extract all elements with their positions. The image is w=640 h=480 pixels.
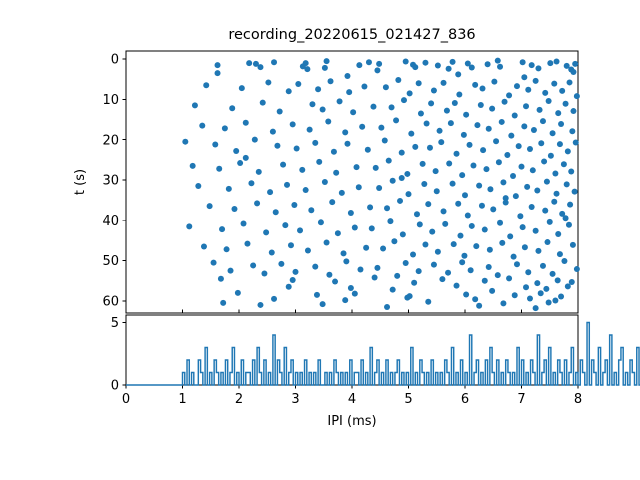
- scatter-point: [412, 144, 418, 150]
- scatter-point: [422, 241, 428, 247]
- scatter-point: [390, 287, 396, 293]
- scatter-point: [476, 303, 482, 309]
- scatter-point: [354, 164, 360, 170]
- scatter-point: [546, 98, 552, 104]
- scatter-point: [344, 73, 350, 79]
- scatter-point: [461, 253, 467, 259]
- scatter-point: [472, 296, 478, 302]
- scatter-point: [337, 98, 343, 104]
- scatter-point: [380, 246, 386, 252]
- scatter-point: [459, 172, 465, 178]
- scatter-point: [261, 271, 267, 277]
- scatter-point: [483, 166, 489, 172]
- scatter-point: [256, 169, 262, 175]
- histogram-y-tick-label: 5: [111, 316, 119, 331]
- scatter-point: [350, 109, 356, 115]
- scatter-point: [561, 161, 567, 167]
- scatter-point: [497, 220, 503, 226]
- scatter-point: [479, 203, 485, 209]
- scatter-point: [514, 83, 520, 89]
- scatter-point: [384, 205, 390, 211]
- scatter-point: [199, 123, 205, 129]
- scatter-point: [551, 199, 557, 205]
- histogram-x-tick-label: 5: [404, 392, 412, 407]
- scatter-point: [290, 277, 296, 283]
- scatter-point: [448, 120, 454, 126]
- scatter-point: [557, 141, 563, 147]
- scatter-point: [186, 223, 192, 229]
- scatter-point: [497, 64, 503, 70]
- scatter-point: [455, 201, 461, 207]
- scatter-point: [224, 246, 230, 252]
- histogram-x-tick-label: 8: [574, 392, 582, 407]
- scatter-point: [565, 283, 571, 289]
- scatter-point: [507, 233, 513, 239]
- scatter-point: [496, 159, 502, 165]
- scatter-point: [566, 222, 572, 228]
- scatter-point: [207, 203, 213, 209]
- scatter-point: [226, 186, 232, 192]
- scatter-point: [570, 69, 576, 75]
- scatter-point: [435, 249, 441, 255]
- scatter-point: [400, 231, 406, 237]
- scatter-point: [469, 65, 475, 71]
- scatter-point: [404, 295, 410, 301]
- scatter-point: [511, 254, 517, 260]
- scatter-point: [407, 90, 413, 96]
- scatter-point: [463, 112, 469, 118]
- scatter-point: [359, 124, 365, 130]
- scatter-point: [326, 272, 332, 278]
- scatter-point: [572, 61, 578, 67]
- scatter-point: [356, 184, 362, 190]
- scatter-point: [348, 210, 354, 216]
- scatter-point: [520, 224, 526, 230]
- histogram-x-tick-label: 2: [235, 392, 243, 407]
- scatter-point: [555, 110, 561, 116]
- scatter-point: [403, 58, 409, 64]
- scatter-point: [434, 188, 440, 194]
- scatter-point: [513, 193, 519, 199]
- scatter-point: [239, 85, 245, 91]
- scatter-point: [550, 130, 556, 136]
- scatter-point: [182, 139, 188, 145]
- scatter-point: [534, 187, 540, 193]
- scatter-point: [212, 142, 218, 148]
- scatter-point: [293, 269, 299, 275]
- scatter-point: [521, 74, 527, 80]
- scatter-point: [267, 189, 273, 195]
- scatter-point: [543, 286, 549, 292]
- scatter-y-tick-label: 60: [102, 295, 119, 310]
- scatter-point: [478, 102, 484, 108]
- scatter-point: [220, 300, 226, 306]
- scatter-point: [540, 118, 546, 124]
- scatter-point: [500, 300, 506, 306]
- scatter-point: [211, 260, 217, 266]
- scatter-point: [517, 213, 523, 219]
- scatter-point: [228, 268, 234, 274]
- scatter-point: [231, 206, 237, 212]
- scatter-point: [470, 162, 476, 168]
- scatter-point: [318, 219, 324, 225]
- scatter-point: [480, 147, 486, 153]
- scatter-point: [344, 141, 350, 147]
- scatter-point: [352, 291, 358, 297]
- scatter-point: [533, 305, 539, 311]
- scatter-point: [218, 276, 224, 282]
- scatter-point: [335, 230, 341, 236]
- scatter-point: [457, 233, 463, 239]
- scatter-point: [374, 67, 380, 73]
- scatter-point: [502, 99, 508, 105]
- scatter-panel: 0102030405060 t (s): [73, 51, 580, 313]
- scatter-point: [252, 137, 258, 143]
- scatter-point: [437, 128, 443, 134]
- scatter-point: [201, 243, 207, 249]
- scatter-point: [263, 229, 269, 235]
- scatter-y-axis-label: t (s): [73, 169, 88, 195]
- scatter-point: [420, 161, 426, 167]
- scatter-point: [524, 184, 530, 190]
- scatter-point: [493, 138, 499, 144]
- scatter-point: [244, 241, 250, 247]
- scatter-y-tick-label: 0: [111, 53, 119, 68]
- scatter-point: [308, 207, 314, 213]
- scatter-point: [401, 97, 407, 103]
- scatter-point: [277, 108, 283, 114]
- scatter-point: [552, 171, 558, 177]
- scatter-point: [487, 247, 493, 253]
- scatter-point: [546, 300, 552, 306]
- scatter-point: [468, 267, 474, 273]
- scatter-point: [467, 142, 473, 148]
- scatter-point: [215, 62, 221, 68]
- scatter-point: [348, 285, 354, 291]
- scatter-point: [547, 219, 553, 225]
- scatter-point: [328, 78, 334, 84]
- scatter-point: [523, 103, 529, 109]
- scatter-point: [573, 140, 579, 146]
- scatter-point: [312, 140, 318, 146]
- scatter-point: [406, 191, 412, 197]
- scatter-point: [499, 119, 505, 125]
- scatter-point: [195, 183, 201, 189]
- scatter-point: [550, 271, 556, 277]
- scatter-point: [369, 225, 375, 231]
- scatter-point: [570, 242, 576, 248]
- scatter-y-tick-label: 10: [102, 93, 119, 108]
- scatter-point: [219, 226, 225, 232]
- scatter-point: [309, 101, 315, 107]
- scatter-point: [356, 62, 362, 68]
- scatter-point: [253, 61, 259, 67]
- scatter-point: [431, 88, 437, 94]
- scatter-point: [403, 260, 409, 266]
- scatter-point: [480, 85, 486, 91]
- scatter-point: [314, 292, 320, 298]
- histogram-x-tick-label: 4: [348, 392, 356, 407]
- scatter-point: [552, 298, 558, 304]
- scatter-point: [391, 238, 397, 244]
- scatter-point: [463, 291, 469, 297]
- scatter-point: [265, 79, 271, 85]
- scatter-point: [454, 283, 460, 289]
- scatter-point: [489, 106, 495, 112]
- scatter-point: [445, 270, 451, 276]
- scatter-point: [254, 200, 260, 206]
- scatter-point: [503, 195, 509, 201]
- scatter-point: [305, 248, 311, 254]
- scatter-point: [535, 65, 541, 71]
- scatter-point: [307, 127, 313, 133]
- scatter-point: [428, 100, 434, 106]
- scatter-point: [520, 59, 526, 65]
- scatter-point: [482, 278, 488, 284]
- scatter-point: [557, 251, 563, 257]
- scatter-point: [339, 190, 345, 196]
- scatter-point: [312, 264, 318, 270]
- scatter-point: [533, 228, 539, 234]
- scatter-point: [290, 121, 296, 127]
- scatter-point: [572, 189, 578, 195]
- scatter-point: [570, 108, 576, 114]
- scatter-point: [203, 82, 209, 88]
- scatter-point: [414, 211, 420, 217]
- scatter-point: [399, 175, 405, 181]
- scatter-point: [222, 125, 228, 131]
- scatter-point: [425, 299, 431, 305]
- histogram-x-tick-label: 3: [291, 392, 299, 407]
- scatter-point: [491, 79, 497, 85]
- scatter-point: [535, 248, 541, 254]
- scatter-point: [555, 231, 561, 237]
- scatter-point: [540, 263, 546, 269]
- scatter-point: [342, 297, 348, 303]
- scatter-point: [559, 88, 565, 94]
- scatter-point: [235, 290, 241, 296]
- scatter-point: [411, 280, 417, 286]
- scatter-point: [435, 63, 441, 69]
- scatter-point: [462, 192, 468, 198]
- scatter-y-tick-label: 20: [102, 133, 119, 148]
- histogram-x-tick-label: 0: [122, 392, 130, 407]
- scatter-axes-frame: [126, 51, 578, 313]
- scatter-point: [510, 173, 516, 179]
- scatter-point: [324, 58, 330, 64]
- scatter-point: [241, 221, 247, 227]
- scatter-point: [433, 168, 439, 174]
- scatter-point: [544, 179, 550, 185]
- scatter-point: [374, 265, 380, 271]
- scatter-point: [303, 60, 309, 66]
- scatter-point: [421, 181, 427, 187]
- scatter-point: [551, 81, 557, 87]
- scatter-point: [561, 258, 567, 264]
- scatter-point: [333, 170, 339, 176]
- scatter-point: [459, 259, 465, 265]
- scatter-point: [519, 164, 525, 170]
- scatter-point: [274, 143, 280, 149]
- scatter-point: [465, 212, 471, 218]
- scatter-point: [295, 81, 301, 87]
- scatter-point: [427, 145, 433, 151]
- scatter-point: [422, 60, 428, 66]
- scatter-point: [325, 119, 331, 125]
- plot-canvas: recording_20220615_021427_836 0102030405…: [0, 0, 640, 480]
- scatter-point: [320, 301, 326, 307]
- scatter-point: [343, 258, 349, 264]
- scatter-point: [529, 62, 535, 68]
- scatter-point: [331, 149, 337, 155]
- scatter-point: [452, 100, 458, 106]
- scatter-point: [322, 179, 328, 185]
- scatter-point: [439, 276, 445, 282]
- scatter-point: [450, 181, 456, 187]
- page-title: recording_20220615_021427_836: [228, 27, 475, 43]
- histogram-x-tick-label: 6: [461, 392, 469, 407]
- scatter-point: [516, 143, 522, 149]
- scatter-point: [564, 181, 570, 187]
- scatter-point: [404, 171, 410, 177]
- scatter-point: [417, 221, 423, 227]
- scatter-point: [490, 206, 496, 212]
- histogram-x-axis-label: IPI (ms): [327, 414, 376, 429]
- scatter-point: [461, 132, 467, 138]
- scatter-point: [280, 162, 286, 168]
- scatter-point: [542, 90, 548, 96]
- scatter-point: [394, 273, 400, 279]
- scatter-point: [544, 239, 550, 245]
- scatter-point: [568, 169, 574, 175]
- scatter-point: [527, 146, 533, 152]
- scatter-point: [229, 105, 235, 111]
- scatter-point: [386, 158, 392, 164]
- scatter-point: [482, 227, 488, 233]
- scatter-point: [332, 279, 338, 285]
- scatter-point: [387, 218, 393, 224]
- scatter-point: [538, 290, 544, 296]
- scatter-point: [373, 165, 379, 171]
- scatter-point: [534, 280, 540, 286]
- scatter-point: [322, 65, 328, 71]
- scatter-point: [372, 275, 378, 281]
- scatter-point: [512, 112, 518, 118]
- scatter-y-tick-label: 50: [102, 254, 119, 269]
- scatter-point: [342, 129, 348, 135]
- scatter-point: [316, 159, 322, 165]
- scatter-point: [429, 229, 435, 235]
- scatter-point: [271, 59, 277, 65]
- scatter-point: [324, 239, 330, 245]
- scatter-point: [286, 284, 292, 290]
- scatter-point: [442, 221, 448, 227]
- scatter-point: [278, 261, 284, 267]
- scatter-point: [521, 123, 527, 129]
- histogram-y-tick-label: 0: [111, 379, 119, 394]
- scatter-point: [530, 167, 536, 173]
- scatter-point: [395, 77, 401, 83]
- scatter-point: [504, 152, 510, 158]
- scatter-point: [525, 269, 531, 275]
- scatter-point: [383, 84, 389, 90]
- scatter-point: [533, 78, 539, 84]
- scatter-point: [495, 272, 501, 278]
- scatter-point: [410, 252, 416, 258]
- scatter-point: [555, 277, 561, 283]
- scatter-point: [500, 179, 506, 185]
- scatter-point: [378, 125, 384, 131]
- scatter-point: [361, 83, 367, 89]
- scatter-point: [346, 89, 352, 95]
- scatter-point: [473, 243, 479, 249]
- scatter-point: [303, 187, 309, 193]
- scatter-point: [438, 139, 444, 145]
- scatter-point: [273, 209, 279, 215]
- scatter-point: [190, 163, 196, 169]
- scatter-point: [474, 122, 480, 128]
- scatter-point: [558, 121, 564, 127]
- scatter-point: [425, 201, 431, 207]
- scatter-point: [469, 223, 475, 229]
- scatter-point: [450, 59, 456, 65]
- scatter-point: [286, 88, 292, 94]
- scatter-point: [243, 155, 249, 161]
- scatter-point: [495, 58, 501, 64]
- scatter-point: [487, 186, 493, 192]
- scatter-point: [508, 133, 514, 139]
- scatter-point: [250, 262, 256, 268]
- scatter-point: [329, 199, 335, 205]
- scatter-point: [527, 295, 533, 301]
- scatter-point: [499, 240, 505, 246]
- scatter-point: [525, 87, 531, 93]
- scatter-point: [363, 245, 369, 251]
- scatter-point: [416, 80, 422, 86]
- scatter-point: [563, 215, 569, 221]
- scatter-point: [506, 275, 512, 281]
- scatter-point: [476, 183, 482, 189]
- scatter-point: [565, 148, 571, 154]
- scatter-point: [456, 92, 462, 98]
- scatter-point: [284, 182, 290, 188]
- scatter-point: [257, 302, 263, 308]
- scatter-point: [341, 250, 347, 256]
- scatter-point: [288, 242, 294, 248]
- scatter-point: [554, 58, 560, 64]
- scatter-point: [367, 204, 373, 210]
- scatter-point: [389, 104, 395, 110]
- scatter-point: [297, 227, 303, 233]
- scatter-point: [441, 208, 447, 214]
- scatter-point: [416, 268, 422, 274]
- scatter-point: [455, 71, 461, 77]
- scatter-point: [486, 126, 492, 132]
- scatter-point: [537, 107, 543, 113]
- scatter-point: [424, 121, 430, 127]
- scatter-point: [384, 304, 390, 310]
- scatter-point: [320, 106, 326, 112]
- scatter-point: [246, 60, 252, 66]
- scatter-point: [366, 59, 372, 65]
- scatter-point: [506, 92, 512, 98]
- scatter-point: [365, 147, 371, 153]
- scatter-point: [512, 292, 518, 298]
- scatter-point: [399, 150, 405, 156]
- scatter-point: [299, 167, 305, 173]
- scatter-point: [489, 288, 495, 294]
- scatter-point: [243, 120, 249, 126]
